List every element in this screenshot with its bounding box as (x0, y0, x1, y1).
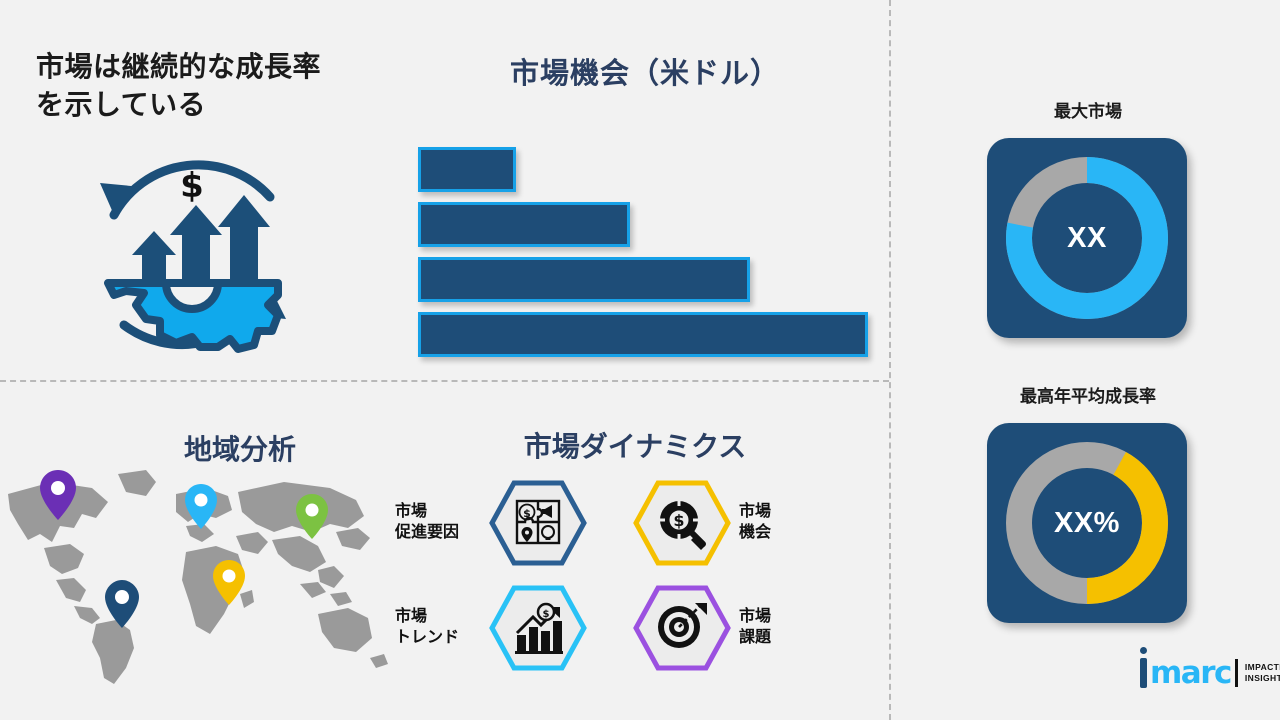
logo-separator (1235, 659, 1238, 687)
hex-opportunities: $ (633, 480, 731, 566)
dynamics-grid: 市場 促進要因 $ (395, 480, 865, 675)
dynamics-panel-title: 市場ダイナミクス (460, 425, 810, 465)
left-panel-title: 市場は継続的な成長率 を示している (36, 48, 381, 124)
hex-challenges (633, 585, 731, 671)
world-map (0, 462, 400, 697)
logo-tagline: IMPACTFUL INSIGHTS (1245, 662, 1280, 684)
hex-drivers: $ (489, 480, 587, 566)
growth-gear-cycle-icon: $ (72, 135, 312, 367)
bar-4 (418, 312, 868, 357)
bar-chart (418, 145, 888, 360)
bar-2 (418, 202, 630, 247)
donut-2-title: 最高年平均成長率 (948, 382, 1228, 407)
bar-3 (418, 257, 750, 302)
donut-card-largest-market: XX (987, 138, 1187, 338)
bar-chart-title: 市場機会（米ドル） (420, 50, 870, 92)
svg-text:$: $ (543, 609, 550, 620)
dynamics-item-challenges-label: 市場 課題 (739, 607, 809, 649)
dynamics-item-opportunities-label: 市場 機会 (739, 502, 809, 544)
dynamics-item-drivers-label: 市場 促進要因 (395, 502, 483, 544)
logo-i-mark (1140, 658, 1147, 688)
horizontal-divider (0, 380, 889, 382)
hex-trends: $ (489, 585, 587, 671)
dynamics-item-drivers[interactable]: 市場 促進要因 $ (395, 480, 587, 566)
dynamics-item-challenges[interactable]: 市場 課題 (633, 585, 809, 671)
donut-1-title: 最大市場 (948, 97, 1228, 122)
slide-root: 市場は継続的な成長率 を示している $ 市場機会（米ドル） (0, 0, 1280, 720)
dynamics-item-opportunities[interactable]: $ 市場 機会 (633, 480, 809, 566)
svg-text:$: $ (180, 166, 204, 206)
donut-1-center-label: XX (987, 138, 1187, 338)
donut-card-highest-cagr: XX% (987, 423, 1187, 623)
bar-1 (418, 147, 516, 192)
dynamics-item-trends[interactable]: 市場 トレンド $ (395, 585, 587, 671)
imarc-logo: marc IMPACTFUL INSIGHTS (1140, 658, 1280, 688)
dynamics-item-trends-label: 市場 トレンド (395, 607, 483, 649)
vertical-divider (889, 0, 891, 720)
svg-text:$: $ (673, 511, 684, 530)
donut-2-center-label: XX% (987, 423, 1187, 623)
logo-wordmark: marc (1150, 658, 1231, 688)
